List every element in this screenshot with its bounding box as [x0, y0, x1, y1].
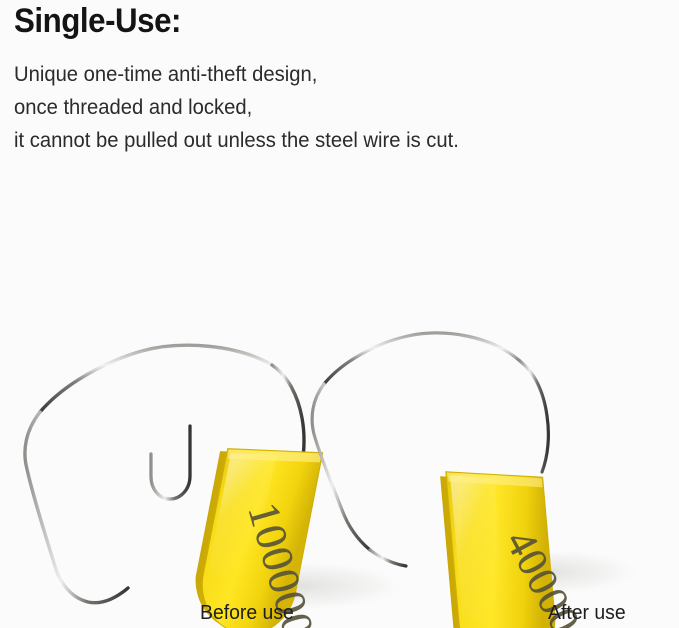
caption-before-use: Before use [200, 602, 294, 625]
page-title: Single-Use: [14, 2, 181, 41]
description-text: Unique one-time anti-theft design, once … [14, 58, 459, 157]
description-line-1: Unique one-time anti-theft design, [14, 58, 459, 91]
description-line-3: it cannot be pulled out unless the steel… [14, 124, 459, 157]
seal-before-use: 1000000 [24, 345, 330, 628]
product-photo-area: 1000000 [0, 168, 679, 628]
caption-after-use: After use [548, 602, 626, 625]
product-infographic: Single-Use: Unique one-time anti-theft d… [0, 0, 679, 628]
wire-hook-free-end [151, 426, 190, 499]
description-line-2: once threaded and locked, [14, 91, 459, 124]
